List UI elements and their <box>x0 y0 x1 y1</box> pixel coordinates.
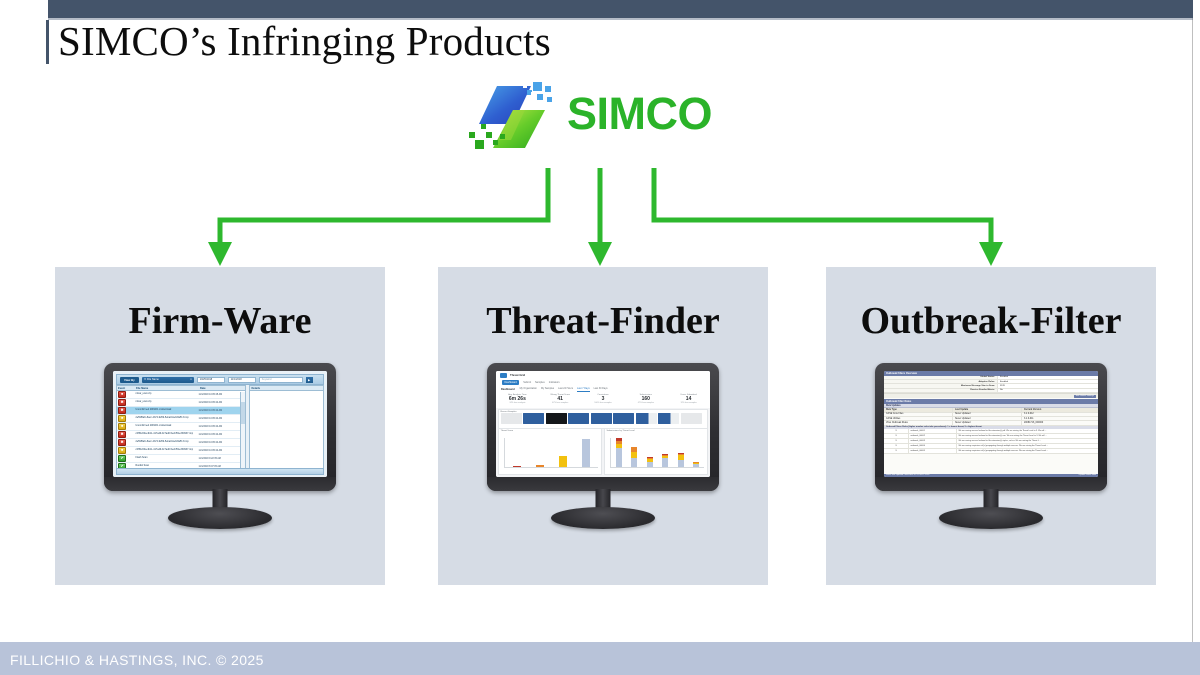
overview-actions[interactable]: Edit Global Settings <box>884 393 1098 398</box>
status-badge: ■ <box>117 447 134 454</box>
chart-card-threat-score: Threat Score <box>498 428 602 475</box>
date-cell: 11/1/2018 10:05:24 AM <box>198 434 246 436</box>
last-update-cell: Never Updated <box>952 413 1021 416</box>
chart-bar-stack <box>678 453 684 467</box>
stat-cards: Avg. Analysis Time6m 26s24% less analysi… <box>496 393 710 408</box>
rules-table-rows: CASE Core FilesNever Updated3.1.0-012CAS… <box>884 413 1098 426</box>
sample-thumbnail[interactable] <box>658 413 679 424</box>
rule-id-cell: outbreak_00004 <box>908 444 956 448</box>
firmware-body: Event File Name Date ■mlcar_uwin.zip11/1… <box>116 385 324 469</box>
event-rows[interactable]: ■mlcar_uwin.zip11/1/2018 10:05:25 AM✖mlc… <box>117 391 245 469</box>
chart-bar-segment <box>631 458 637 467</box>
chart-bar <box>513 466 521 467</box>
col-date: Date <box>199 386 245 390</box>
brand-name: Threat Grid <box>510 373 525 377</box>
col-last-update: Last Update <box>952 408 1021 411</box>
tab-indicators[interactable]: Indicators <box>549 381 560 385</box>
green-status-icon: ✔ <box>118 455 126 462</box>
chart-bar-stack <box>662 454 668 467</box>
chart-bar <box>582 439 590 467</box>
monitor-bezel: View By ▼ File Name ▾ 10/25/2018 11/1/20… <box>104 363 336 491</box>
page-title: SIMCO’s Infringing Products <box>58 17 551 65</box>
date-to-field[interactable]: 11/1/2018 <box>228 377 256 383</box>
overview-value: No <box>997 389 1098 392</box>
chart-bar-segment <box>662 458 668 467</box>
monitor-threat-finder: Threat Grid DashboardSubmitSamplesIndica… <box>487 363 719 528</box>
monitor-outbreak-filter: Outbreak Filters Overview Global Status:… <box>875 363 1107 528</box>
red-status-icon: ✖ <box>118 399 126 406</box>
range-filter-last-24-hours[interactable]: Last 24 Hours <box>558 387 573 392</box>
chart-bar <box>536 465 544 468</box>
date-cell: 11/1/2018 10:05:24 AM <box>198 442 246 444</box>
threat-level-cell: 3 <box>884 444 908 448</box>
product-card-outbreak-filter[interactable]: Outbreak-Filter Outbreak Filters Overvie… <box>826 267 1156 585</box>
scrollbar-thumb[interactable] <box>241 402 245 424</box>
rule-description-cell: We are seeing suspicious url(s) propagat… <box>956 449 1098 453</box>
red-status-icon: ■ <box>118 391 126 398</box>
current-version-cell: 3.1.0-012 <box>1021 413 1098 416</box>
rule-type-cell: Virus Outbreak Rules <box>884 421 952 424</box>
date-cell: 11/1/2018 10:05:25 AM <box>198 394 246 396</box>
threat-level-cell: 3 <box>884 449 908 453</box>
monitor-base <box>939 507 1043 529</box>
monitor-bezel: Outbreak Filters Overview Global Status:… <box>875 363 1107 491</box>
rule-id-cell: outbreak_00005 <box>908 449 956 453</box>
table-row[interactable]: ■c0f54c60a-4b11-417a49-9c7ad0-5ecbf51e33… <box>117 447 245 455</box>
chart-bar-stack <box>631 447 637 467</box>
stat-card: Submissions16047% less samples <box>624 393 667 408</box>
stat-card: Avg. Analysis Time6m 26s24% less analysi… <box>496 393 539 408</box>
date-cell: 11/1/2018 9:22:35 AM <box>198 458 246 460</box>
details-pane: Details <box>249 385 324 469</box>
table-row[interactable]: ✖mlcar_uwin.zip11/1/2018 10:05:24 AM <box>117 399 245 407</box>
stat-subtext: 67% less samples <box>539 402 582 404</box>
date-cell: 11/1/2018 10:05:24 AM <box>198 402 246 404</box>
title-accent-bar <box>46 20 49 64</box>
status-badge: ✖ <box>117 431 134 438</box>
sample-thumbnail[interactable] <box>681 413 702 424</box>
rule-description-cell: We are seeing unusual volume for file ex… <box>956 434 1098 438</box>
rule-description-cell: We are seeing suspicious url(s) propagat… <box>956 444 1098 448</box>
date-cell: 11/1/2018 10:05:24 AM <box>198 410 246 412</box>
range-filter-last-30-days[interactable]: Last 30 Days <box>594 387 608 392</box>
threat-rules-rows: 3outbreak_00001We are seeing unusual vol… <box>884 429 1098 454</box>
rules-last-updated: Rules last updated: Wed Nov 20 22:34:12 … <box>886 474 929 476</box>
simco-logo-text: SIMCO <box>567 88 712 140</box>
tab-submit[interactable]: Submit <box>523 381 531 385</box>
date-cell: 11/1/2018 10:05:24 AM <box>198 450 246 452</box>
breadcrumb: Dashboard <box>501 388 515 391</box>
stat-subtext: 12% less samples <box>667 402 710 404</box>
filter-select-value: ▼ File Name <box>144 378 159 381</box>
sample-thumbnail[interactable] <box>501 413 522 424</box>
chart-plot-area <box>610 438 704 468</box>
yellow-status-icon: ■ <box>118 447 126 454</box>
tab-dashboard[interactable]: Dashboard <box>502 380 519 384</box>
chart-plot-area <box>504 438 598 468</box>
red-status-icon: ✖ <box>118 407 126 414</box>
list-scrollbar[interactable] <box>240 392 245 468</box>
range-filter-last-7-days[interactable]: Last 7 Days <box>577 387 590 392</box>
sample-thumbnail[interactable] <box>568 413 589 424</box>
rule-id-cell: outbreak_00001 <box>908 429 956 433</box>
current-version-cell: 20081716_000000 <box>1021 421 1098 424</box>
file-name-cell: Unconfirmed 20814f1.crdownload <box>134 425 198 428</box>
status-badge: ✖ <box>117 439 134 446</box>
stat-card: Wrong Threat Score4167% less samples <box>539 393 582 408</box>
overview-value: 512K <box>997 384 1098 387</box>
table-row[interactable]: ✔Flash Scan11/1/2018 9:22:35 AM <box>117 455 245 463</box>
yellow-status-icon: ■ <box>118 423 126 430</box>
filter-select[interactable]: ▼ File Name ▾ <box>142 377 194 383</box>
outbreak-app: Outbreak Filters Overview Global Status:… <box>884 371 1098 477</box>
last-update-cell: Never Updated <box>952 417 1021 420</box>
file-name-cell: mlcar_uwin.zip <box>134 393 198 396</box>
details-header: Details <box>250 386 323 391</box>
red-status-icon: ✖ <box>118 439 126 446</box>
table-row[interactable]: ■Unconfirmed 20814f1.crdownload11/1/2018… <box>117 423 245 431</box>
slide-top-bar <box>48 0 1193 18</box>
rule-description-cell: We are seeing unusual volume for file ex… <box>956 439 1098 443</box>
chart-title: Submissions by Threat Level <box>605 429 707 432</box>
product-card-firm-ware[interactable]: Firm-Ware View By ▼ File Name ▾ 10/25/20… <box>55 267 385 585</box>
stat-card: Convictions3100% less samples <box>582 393 625 408</box>
chart-bar-stack <box>693 462 699 467</box>
file-name-cell: 2e595fafc-8acc-4b74-9269-5eba01cefc8af5.… <box>134 441 198 444</box>
edit-global-settings-button[interactable]: Edit Global Settings <box>1074 395 1096 398</box>
simco-logo: SIMCO <box>467 80 713 156</box>
overview-key: Receive Emailed Alerts: <box>884 389 997 392</box>
overview-value: Enabled <box>997 376 1098 379</box>
status-badge: ■ <box>117 391 134 398</box>
overview-key: Adaptive Rules: <box>884 380 997 383</box>
table-row[interactable]: ✖c0f54c60a-4b11-417a49-9c7ad0-5ecbf51e33… <box>117 431 245 439</box>
table-row[interactable]: ✖Unconfirmed 20814f1.crdownload11/1/2018… <box>117 407 245 415</box>
monitor-firm-ware: View By ▼ File Name ▾ 10/25/2018 11/1/20… <box>104 363 336 528</box>
date-cell: 11/1/2018 10:05:24 AM <box>198 418 246 420</box>
sample-thumbnail[interactable] <box>591 413 612 424</box>
table-row[interactable]: ■2e595fafc-8acc-4b74-9269-5eba01cefc8af5… <box>117 415 245 423</box>
view-by-label: View By <box>120 377 139 383</box>
sample-thumbnail[interactable] <box>546 413 567 424</box>
rule-id-cell: outbreak_00003 <box>908 439 956 443</box>
monitor-screen: View By ▼ File Name ▾ 10/25/2018 11/1/20… <box>113 371 327 477</box>
col-file: File Name <box>135 386 199 390</box>
col-current-version: Current Version <box>1021 408 1098 411</box>
sample-thumbnail[interactable] <box>613 413 634 424</box>
range-pills[interactable]: My OrganizationMy SamplesLast 24 HoursLa… <box>520 387 608 392</box>
monitor-bezel: Threat Grid DashboardSubmitSamplesIndica… <box>487 363 719 491</box>
search-input[interactable]: Keyword <box>259 377 303 383</box>
col-event: Event <box>117 386 135 390</box>
threat-level-cell: 3 <box>884 439 908 443</box>
monitor-screen: Threat Grid DashboardSubmitSamplesIndica… <box>496 371 710 477</box>
sample-thumbnail[interactable] <box>523 413 544 424</box>
monitor-base <box>168 507 272 529</box>
file-name-cell: Unconfirmed 20814f1.crdownload <box>134 409 198 412</box>
last-update-cell: Never Updated <box>952 421 1021 424</box>
range-filter-my-organization[interactable]: My Organization <box>520 387 537 392</box>
product-label: Threat-Finder <box>438 299 768 343</box>
firmware-app: View By ▼ File Name ▾ 10/25/2018 11/1/20… <box>113 371 327 477</box>
col-rule-type: Rule Type <box>884 408 952 411</box>
rule-type-cell: CASE Core Files <box>884 413 952 416</box>
range-filter-my-samples[interactable]: My Samples <box>541 387 554 392</box>
rule-description-cell: We are seeing unusual volume for file ex… <box>956 429 1098 433</box>
chart-bar-stack <box>616 438 622 467</box>
chart-bar-stack <box>647 457 653 467</box>
chart-bar-segment <box>678 460 684 467</box>
monitor-screen: Outbreak Filters Overview Global Status:… <box>884 371 1098 477</box>
stat-card: Users Submitted1412% less samples <box>667 393 710 408</box>
chart-bar-segment <box>647 462 653 467</box>
firmware-toolbar[interactable]: View By ▼ File Name ▾ 10/25/2018 11/1/20… <box>116 374 324 385</box>
overview-key: Global Status: <box>884 376 997 379</box>
status-badge: ■ <box>117 423 134 430</box>
monitor-base <box>551 507 655 529</box>
stat-subtext: 24% less analysis <box>496 402 539 404</box>
status-badge: ✖ <box>117 399 134 406</box>
table-row[interactable]: ■mlcar_uwin.zip11/1/2018 10:05:25 AM <box>117 391 245 399</box>
slide-canvas: SIMCO’s Infringing Products <box>0 0 1200 675</box>
chart-card-submissions: Submissions by Threat Level <box>604 428 708 475</box>
table-row: 3outbreak_00005We are seeing suspicious … <box>884 449 1098 454</box>
rule-id-cell: outbreak_00002 <box>908 434 956 438</box>
recent-samples-panel[interactable]: Recent Samples <box>498 409 708 429</box>
file-name-cell: c0f54c60a-4b11-417a49-9c7ad0-5ecbf51e330… <box>134 433 198 436</box>
status-badge: ✔ <box>117 455 134 462</box>
threat-level-cell: 3 <box>884 429 908 433</box>
slide-right-border <box>1192 0 1193 675</box>
chart-bar <box>559 456 567 467</box>
threat-level-cell: 3 <box>884 434 908 438</box>
sample-thumbnail[interactable] <box>636 413 657 424</box>
status-badge: ■ <box>117 415 134 422</box>
rule-type-cell: CASE Utilities <box>884 417 952 420</box>
footer-copyright: FILLICHIO & HASTINGS, INC. © 2025 <box>10 652 264 668</box>
event-list[interactable]: Event File Name Date ■mlcar_uwin.zip11/1… <box>116 385 246 469</box>
go-button[interactable]: ▶ <box>306 377 313 383</box>
date-from-field[interactable]: 10/25/2018 <box>197 377 225 383</box>
chevron-down-icon: ▾ <box>190 378 191 381</box>
status-badge: ✖ <box>117 407 134 414</box>
date-cell: 11/1/2018 10:05:24 AM <box>198 426 246 428</box>
brand-logo-icon <box>500 373 507 378</box>
dashboard-charts: Threat Score Submissions by Threat Level <box>498 428 708 475</box>
overview-key: Maximum Message Size to Scan: <box>884 384 997 387</box>
file-name-cell: Flash Scan <box>134 457 198 460</box>
stat-subtext: 47% less samples <box>624 402 667 404</box>
file-name-cell: c0f54c60a-4b11-417a49-9c7ad0-5ecbf51e330… <box>134 449 198 452</box>
product-card-threat-finder[interactable]: Threat-Finder Threat Grid DashboardSubmi… <box>438 267 768 585</box>
yellow-status-icon: ■ <box>118 415 126 422</box>
product-label: Firm-Ware <box>55 299 385 343</box>
file-name-cell: mlcar_uwin.zip <box>134 401 198 404</box>
sample-thumbnail-row[interactable] <box>499 413 707 424</box>
overview-rows: Global Status:EnabledAdaptive Rules:Enab… <box>884 376 1098 394</box>
chart-title: Threat Score <box>499 429 601 432</box>
table-row[interactable]: ✖2e595fafc-8acc-4b74-9269-5eba01cefc8af5… <box>117 439 245 447</box>
simco-parallelogram-mark <box>467 80 559 156</box>
current-version-cell: 3.1.0-011 <box>1021 417 1098 420</box>
chart-bar-segment <box>693 464 699 467</box>
file-name-cell: 2e595fafc-8acc-4b74-9269-5eba01cefc8af5.… <box>134 417 198 420</box>
overview-value: Enabled <box>997 380 1098 383</box>
tab-samples[interactable]: Samples <box>535 381 545 385</box>
product-label: Outbreak-Filter <box>826 299 1156 343</box>
firmware-status-bar <box>116 468 324 475</box>
update-rules-now-button[interactable]: Update Rules Now <box>1079 474 1096 476</box>
red-status-icon: ✖ <box>118 431 126 438</box>
slide-footer: FILLICHIO & HASTINGS, INC. © 2025 <box>0 642 1200 675</box>
threatfinder-app: Threat Grid DashboardSubmitSamplesIndica… <box>496 371 710 477</box>
chart-bar-segment <box>616 448 622 467</box>
stat-subtext: 100% less samples <box>582 402 625 404</box>
